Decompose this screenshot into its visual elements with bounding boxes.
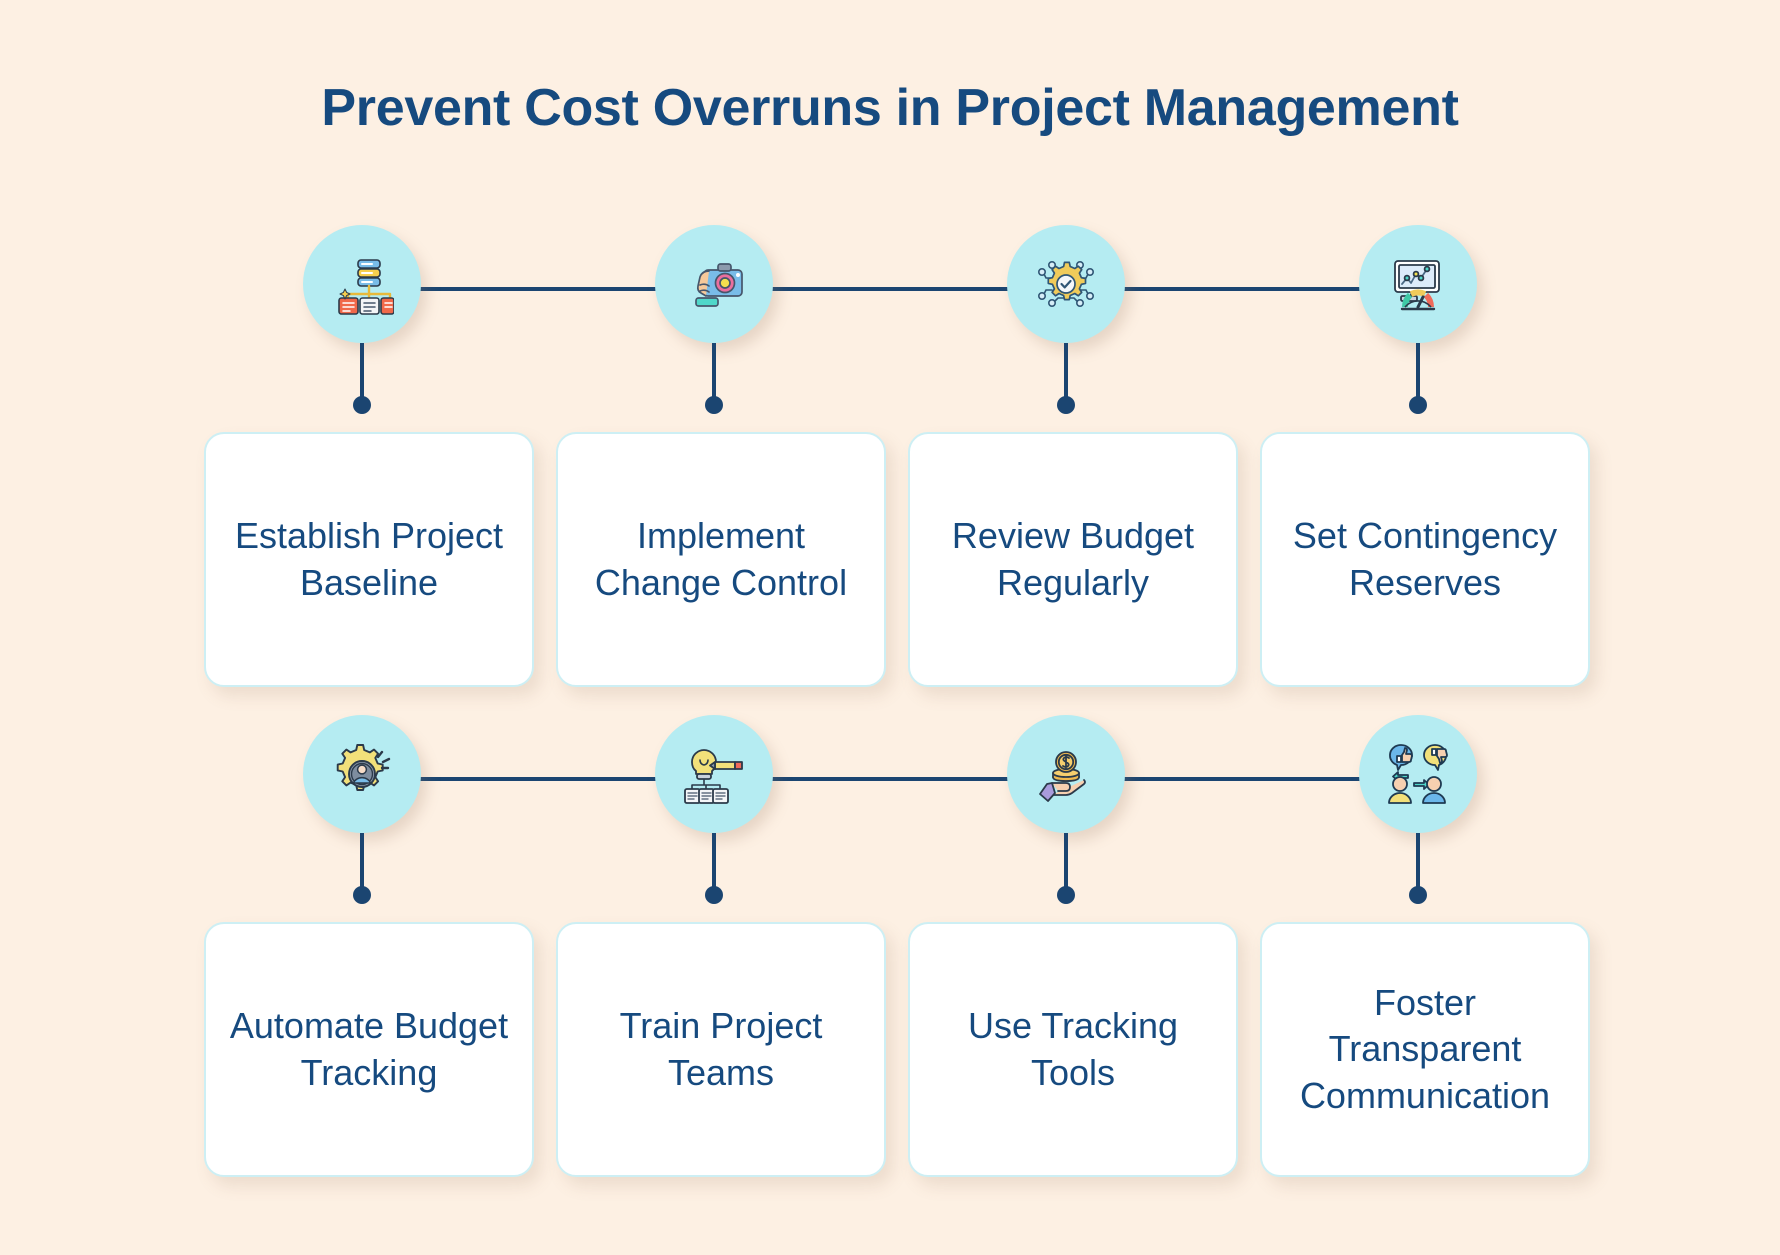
step-card-establish-project-baseline[interactable]: Establish Project Baseline (204, 432, 534, 687)
connector-dot-2 (705, 396, 723, 414)
step-icon-circle-automate-budget-tracking[interactable] (303, 715, 421, 833)
connector-dot-4 (1409, 396, 1427, 414)
connector-dot-7 (1057, 886, 1075, 904)
step-card-set-contingency-reserves[interactable]: Set Contingency Reserves (1260, 432, 1590, 687)
step-card-label: Foster Transparent Communication (1278, 980, 1572, 1118)
step-icon-circle-implement-change-control[interactable] (655, 225, 773, 343)
step-icon-circle-set-contingency-reserves[interactable] (1359, 225, 1477, 343)
connector-dot-8 (1409, 886, 1427, 904)
step-card-foster-transparent-communication[interactable]: Foster Transparent Communication (1260, 922, 1590, 1177)
step-card-label: Set Contingency Reserves (1278, 513, 1572, 605)
step-card-review-budget-regularly[interactable]: Review Budget Regularly (908, 432, 1238, 687)
step-card-implement-change-control[interactable]: Implement Change Control (556, 432, 886, 687)
step-cards-row-2: Automate Budget Tracking Train Project T… (0, 922, 1780, 1182)
gear-checkmark-network-icon (1034, 252, 1098, 316)
step-card-use-tracking-tools[interactable]: Use Tracking Tools (908, 922, 1238, 1177)
step-cards-row-1: Establish Project Baseline Implement Cha… (0, 432, 1780, 692)
infographic-canvas: Prevent Cost Overruns in Project Managem… (0, 0, 1780, 1255)
icon-circles-row-2 (0, 690, 1780, 870)
connector-dot-1 (353, 396, 371, 414)
page-title: Prevent Cost Overruns in Project Managem… (0, 78, 1780, 138)
step-card-label: Establish Project Baseline (222, 513, 516, 605)
step-card-train-project-teams[interactable]: Train Project Teams (556, 922, 886, 1177)
step-icon-circle-review-budget-regularly[interactable] (1007, 225, 1125, 343)
icon-circles-row-1 (0, 200, 1780, 380)
step-icon-circle-use-tracking-tools[interactable] (1007, 715, 1125, 833)
connector-dot-5 (353, 886, 371, 904)
database-hierarchy-icon (330, 252, 394, 316)
gear-user-icon (330, 742, 394, 806)
step-card-label: Train Project Teams (574, 1003, 868, 1095)
feedback-thumbs-people-icon (1386, 742, 1450, 806)
step-card-label: Automate Budget Tracking (222, 1003, 516, 1095)
lightbulb-pencil-documents-icon (682, 742, 746, 806)
step-icon-circle-train-project-teams[interactable] (655, 715, 773, 833)
step-icon-circle-establish-project-baseline[interactable] (303, 225, 421, 343)
connector-dot-3 (1057, 396, 1075, 414)
step-card-label: Use Tracking Tools (926, 1003, 1220, 1095)
step-card-label: Implement Change Control (574, 513, 868, 605)
connector-dot-6 (705, 886, 723, 904)
hand-camera-icon (682, 252, 746, 316)
step-icon-circle-foster-transparent-communication[interactable] (1359, 715, 1477, 833)
monitor-chart-gauge-icon (1386, 252, 1450, 316)
hand-coins-dollar-icon (1034, 742, 1098, 806)
step-card-label: Review Budget Regularly (926, 513, 1220, 605)
step-card-automate-budget-tracking[interactable]: Automate Budget Tracking (204, 922, 534, 1177)
